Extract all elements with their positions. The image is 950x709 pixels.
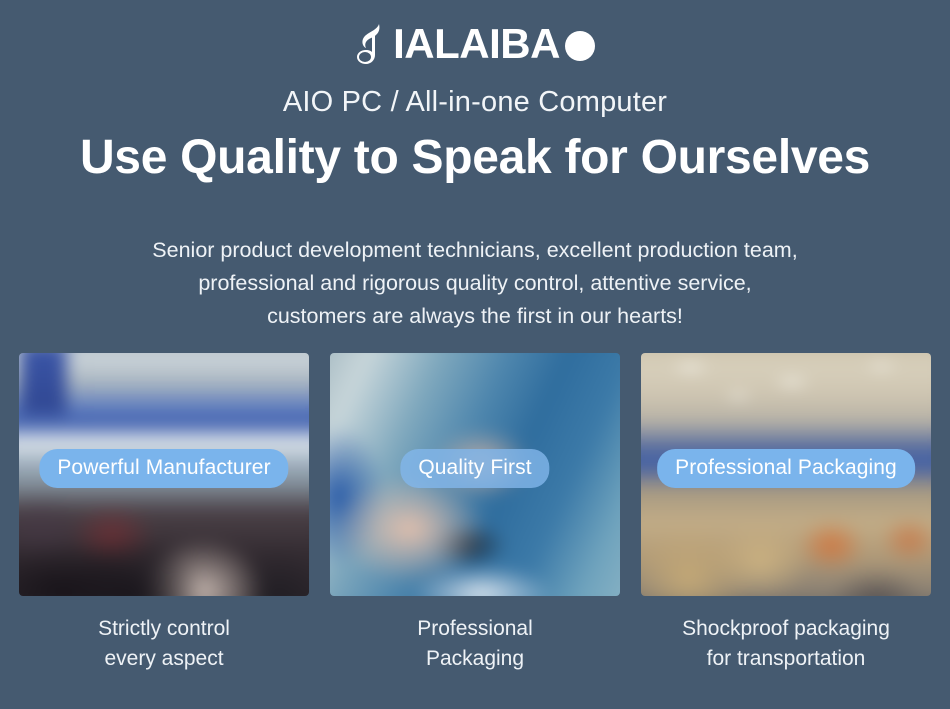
music-note-logo-icon xyxy=(355,22,389,66)
feature-card-list: Powerful Manufacturer Strictly control e… xyxy=(19,353,931,674)
card-caption-line-2: Packaging xyxy=(417,644,533,674)
feature-card[interactable]: Powerful Manufacturer Strictly control e… xyxy=(19,353,309,674)
card-caption: Strictly control every aspect xyxy=(98,614,230,674)
product-subtitle: AIO PC / All-in-one Computer xyxy=(283,84,667,120)
intro-line-2: professional and rigorous quality contro… xyxy=(35,267,915,300)
exhibition-hall-photo: Powerful Manufacturer xyxy=(19,353,309,596)
logo-circle-icon xyxy=(565,31,595,61)
brand-logo[interactable]: IALAIBA xyxy=(355,18,595,70)
status-badge: Quality First xyxy=(400,449,549,488)
card-caption-line-1: Professional xyxy=(417,614,533,644)
status-badge: Powerful Manufacturer xyxy=(39,449,288,488)
quality-inspection-photo: Quality First xyxy=(330,353,620,596)
card-caption-line-2: for transportation xyxy=(682,644,890,674)
intro-line-3: customers are always the first in our he… xyxy=(35,300,915,333)
card-caption: Professional Packaging xyxy=(417,614,533,674)
card-caption-line-1: Shockproof packaging xyxy=(682,614,890,644)
card-caption: Shockproof packaging for transportation xyxy=(682,614,890,674)
page-title: Use Quality to Speak for Ourselves xyxy=(80,130,870,186)
promo-banner: IALAIBA AIO PC / All-in-one Computer Use… xyxy=(0,0,950,709)
feature-card[interactable]: Professional Packaging Shockproof packag… xyxy=(641,353,931,674)
card-caption-line-1: Strictly control xyxy=(98,614,230,644)
brand-wordmark: IALAIBA xyxy=(393,22,560,66)
intro-paragraph: Senior product development technicians, … xyxy=(35,234,915,333)
intro-line-1: Senior product development technicians, … xyxy=(35,234,915,267)
status-badge: Professional Packaging xyxy=(657,449,915,488)
feature-card[interactable]: Quality First Professional Packaging xyxy=(330,353,620,674)
card-caption-line-2: every aspect xyxy=(98,644,230,674)
packaging-warehouse-photo: Professional Packaging xyxy=(641,353,931,596)
